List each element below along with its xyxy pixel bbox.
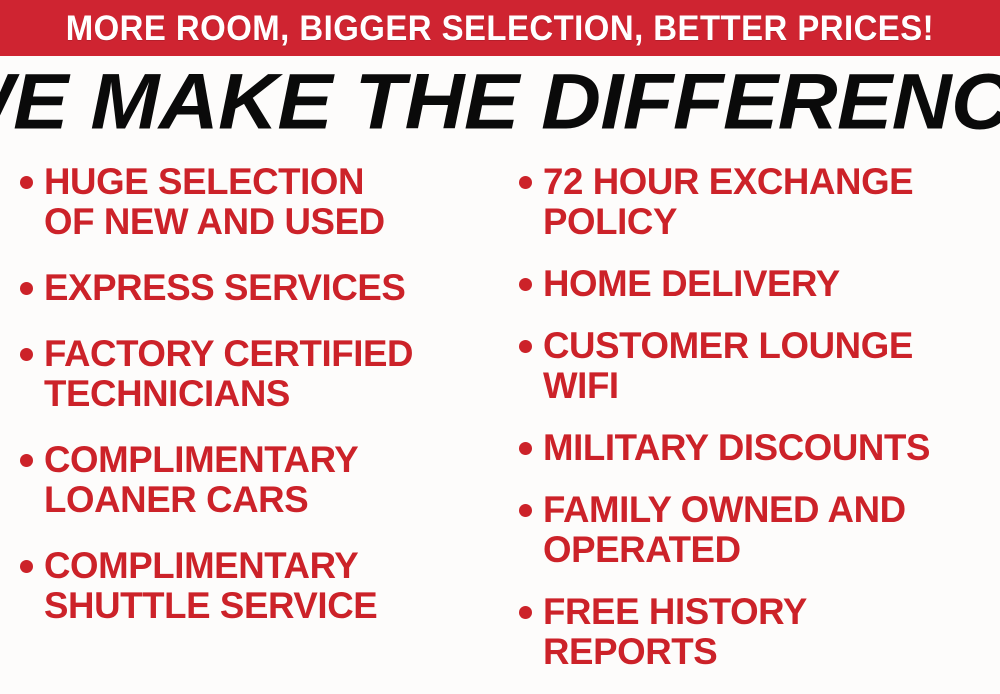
list-item: MILITARY DISCOUNTS <box>519 428 1000 468</box>
bullet-dot-icon <box>519 442 532 455</box>
bullet-dot-icon <box>519 340 532 353</box>
bullet-dot-icon <box>519 278 532 291</box>
bullet-dot-icon <box>519 606 532 619</box>
benefits-columns: HUGE SELECTION OF NEW AND USED EXPRESS S… <box>0 156 1000 694</box>
list-item: FAMILY OWNED AND OPERATED <box>519 490 1000 570</box>
list-item-label: FAMILY OWNED AND OPERATED <box>543 490 906 570</box>
list-item: CUSTOMER LOUNGE WIFI <box>519 326 1000 406</box>
list-item-label: FREE HISTORY REPORTS <box>543 592 807 672</box>
list-item: FREE HISTORY REPORTS <box>519 592 1000 672</box>
promo-poster: MORE ROOM, BIGGER SELECTION, BETTER PRIC… <box>0 0 1000 694</box>
headline-area: WE MAKE THE DIFFERENCE <box>0 64 1000 140</box>
list-item-label: MILITARY DISCOUNTS <box>543 428 930 468</box>
list-item-label: EXPRESS SERVICES <box>44 268 405 308</box>
list-item-label: 72 HOUR EXCHANGE POLICY <box>543 162 913 242</box>
top-banner: MORE ROOM, BIGGER SELECTION, BETTER PRIC… <box>0 0 1000 56</box>
list-item-label: COMPLIMENTARY LOANER CARS <box>44 440 358 520</box>
page-title: WE MAKE THE DIFFERENCE <box>0 63 1000 141</box>
list-item: 72 HOUR EXCHANGE POLICY <box>519 162 1000 242</box>
list-item-label: CUSTOMER LOUNGE WIFI <box>543 326 913 406</box>
bullet-dot-icon <box>519 504 532 517</box>
banner-headline: MORE ROOM, BIGGER SELECTION, BETTER PRIC… <box>66 11 934 46</box>
list-item: HOME DELIVERY <box>519 264 1000 304</box>
list-item-label: HOME DELIVERY <box>543 264 840 304</box>
list-item-label: HUGE SELECTION OF NEW AND USED <box>44 162 385 242</box>
list-item-label: FACTORY CERTIFIED TECHNICIANS <box>44 334 413 414</box>
list-item-label: COMPLIMENTARY SHUTTLE SERVICE <box>44 546 377 626</box>
bullet-dot-icon <box>519 176 532 189</box>
